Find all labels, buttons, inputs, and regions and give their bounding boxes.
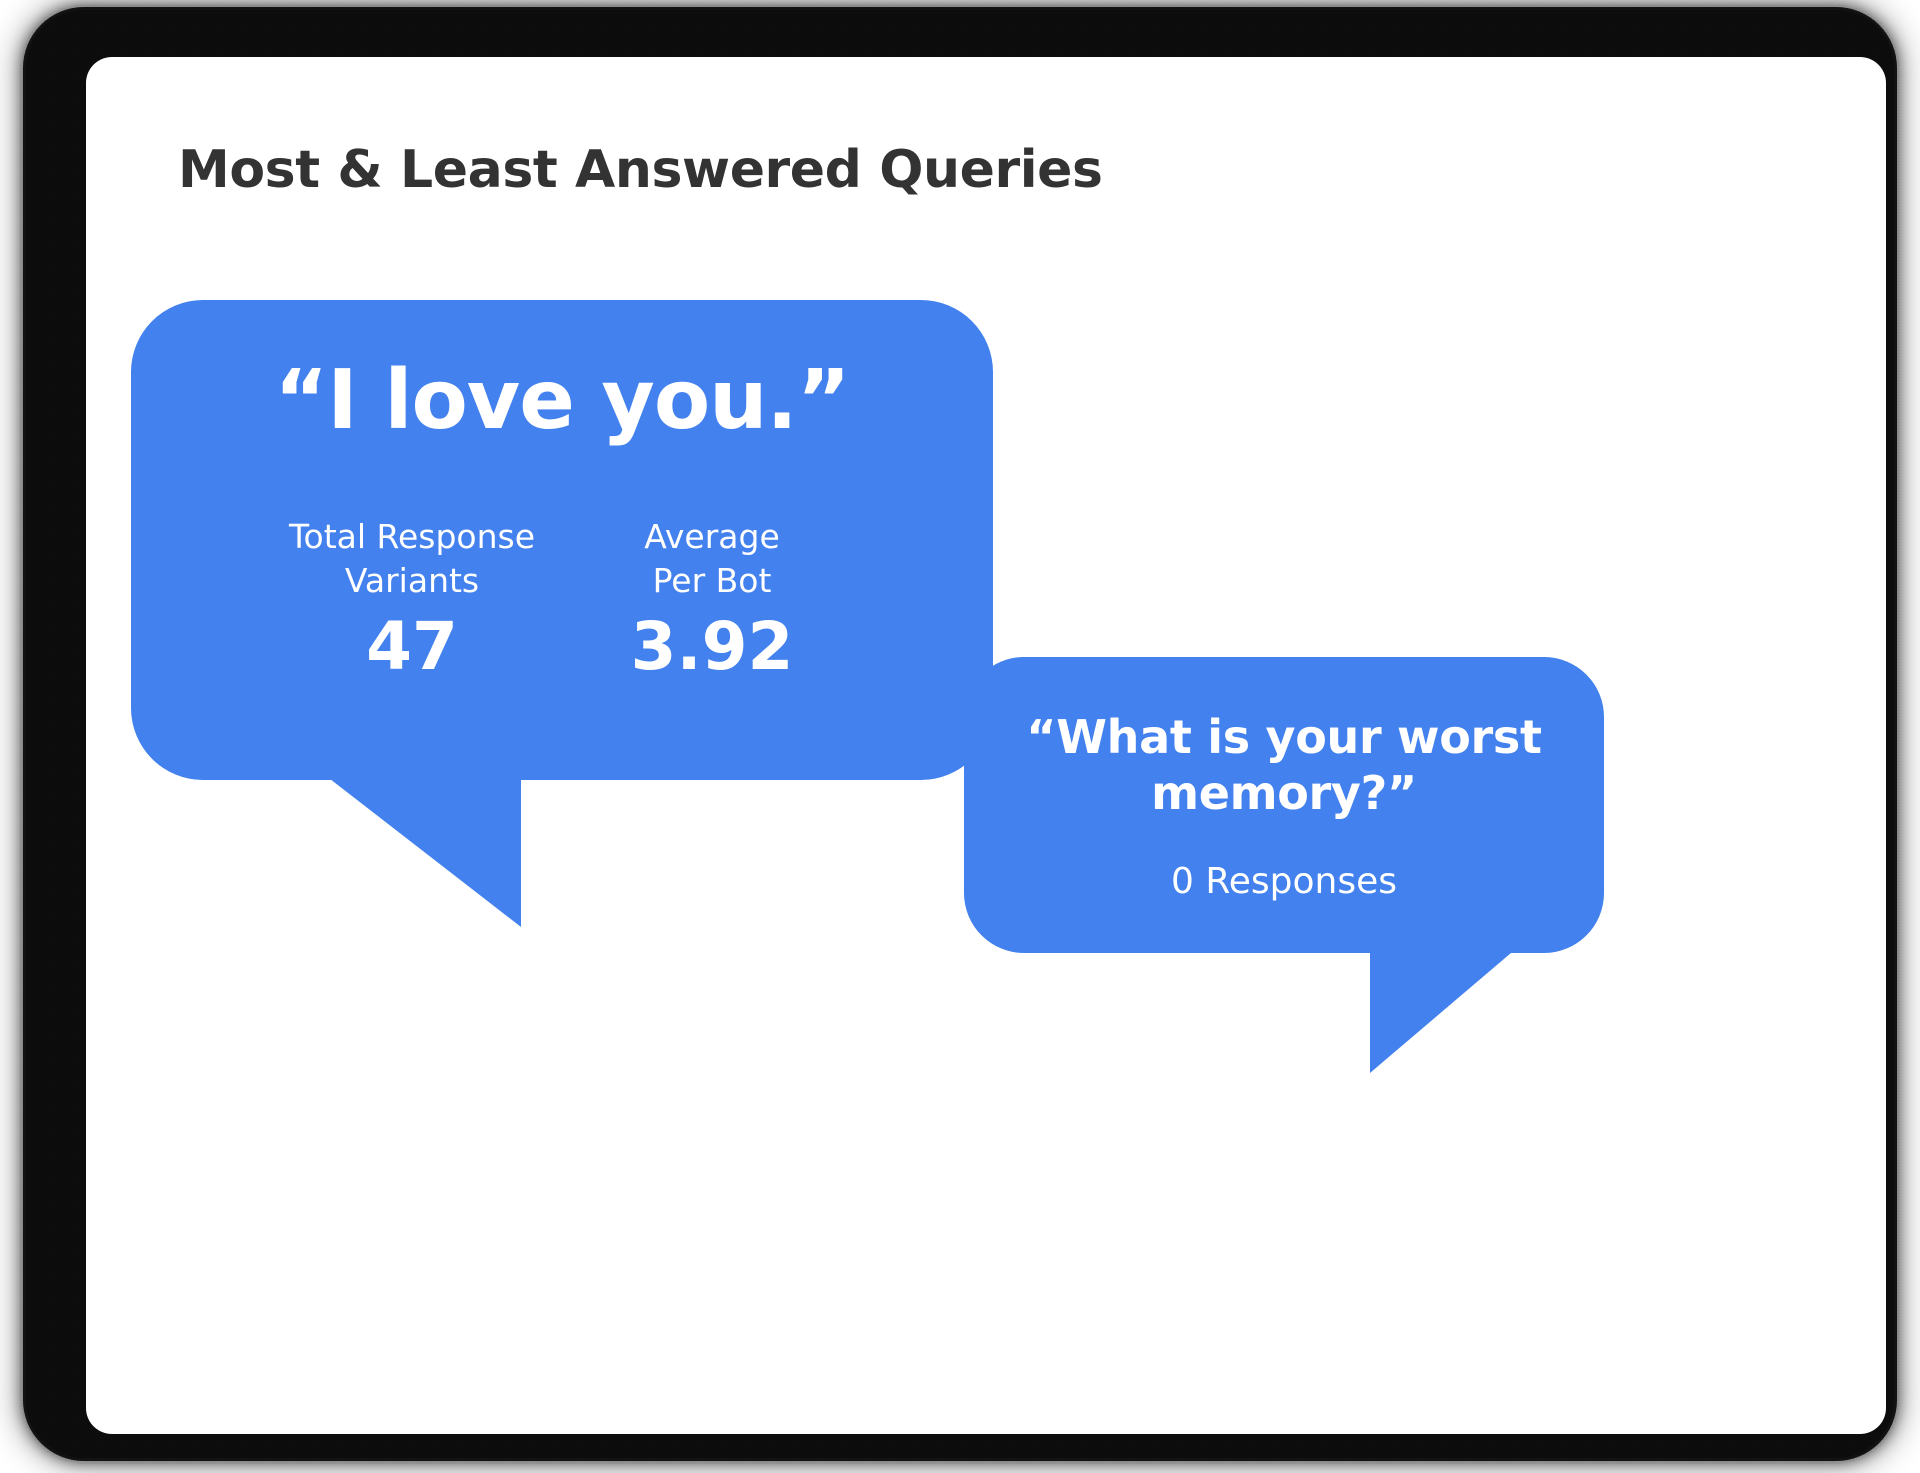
stat-value: 47	[262, 614, 562, 680]
stat-value: 3.92	[562, 614, 862, 680]
most-answered-query-text: “I love you.”	[131, 360, 993, 442]
speech-tail-icon	[321, 772, 521, 927]
device-frame: Most & Least Answered Queries “I love yo…	[26, 10, 1894, 1458]
stat-total-response-variants: Total Response Variants 47	[262, 515, 562, 680]
stat-average-per-bot: Average Per Bot 3.92	[562, 515, 862, 680]
least-answered-bubble-body: “What is your worst memory?” 0 Responses	[964, 657, 1604, 953]
page-title: Most & Least Answered Queries	[178, 140, 1103, 200]
most-answered-bubble-body: “I love you.” Total Response Variants 47…	[131, 300, 993, 780]
card-surface: Most & Least Answered Queries “I love yo…	[86, 57, 1886, 1434]
most-answered-bubble[interactable]: “I love you.” Total Response Variants 47…	[131, 300, 993, 930]
speech-tail-icon	[1370, 947, 1518, 1073]
least-answered-query-text: “What is your worst memory?”	[964, 709, 1604, 821]
most-answered-stats: Total Response Variants 47 Average Per B…	[131, 515, 993, 680]
least-answered-response-count: 0 Responses	[964, 861, 1604, 902]
stat-label: Total Response Variants	[262, 515, 562, 602]
stat-label: Average Per Bot	[562, 515, 862, 602]
least-answered-bubble[interactable]: “What is your worst memory?” 0 Responses	[964, 657, 1604, 1097]
